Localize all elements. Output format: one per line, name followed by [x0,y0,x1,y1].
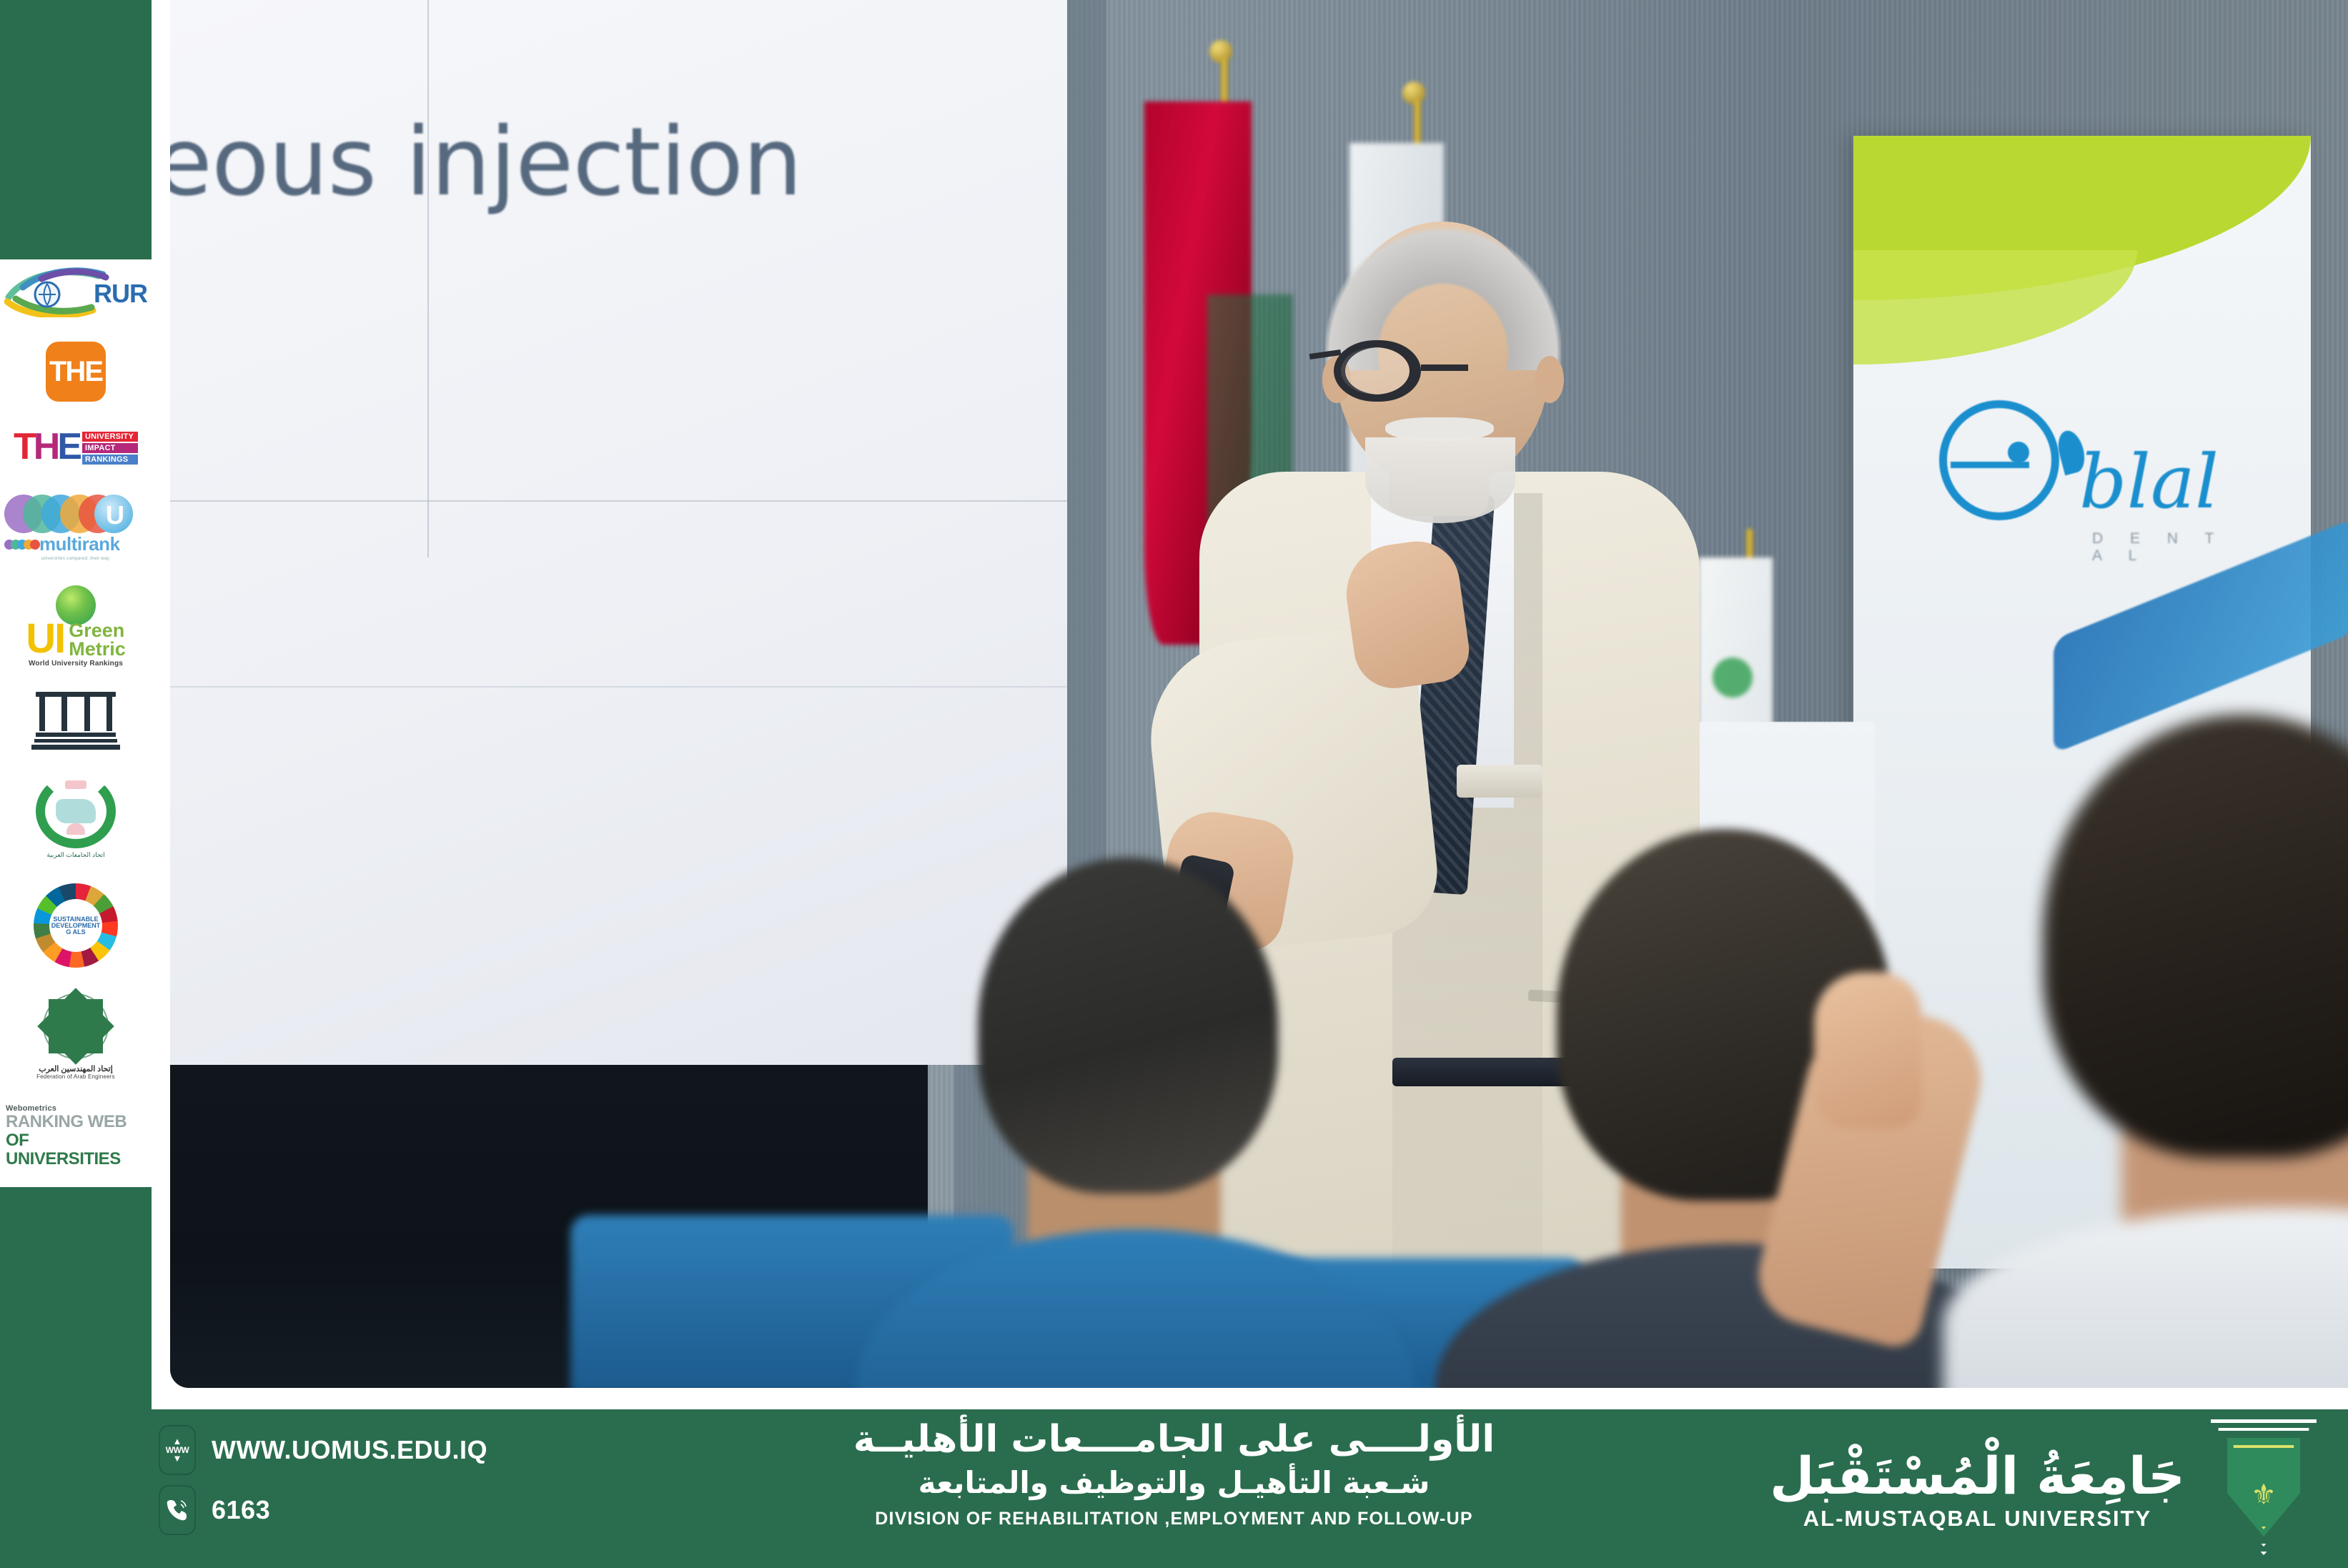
eblal-logo: blal D E N T A L [1939,400,2239,543]
federation-arab-engineers-icon: إتحاد المهندسين العرب Federation of Arab… [22,992,129,1080]
ranking-badge-arab-universities: اتحاد الجامعات العربية [6,774,146,859]
arab-universities-caption: اتحاد الجامعات العربية [46,851,104,859]
rur-icon: RUR [4,266,147,317]
ranking-badge-federation-arab-engineers: إتحاد المهندسين العرب Federation of Arab… [6,992,146,1080]
university-name-arabic: جَامِعَةُ الْمُسْتَقْبَل [1770,1443,2185,1509]
sdg-wheel-icon: SUSTAINABLE DEVELOPMENT G ALS [34,883,118,968]
ranking-badge-rur: RUR [6,266,146,317]
the-impact-line-university: UNIVERSITY [82,432,138,442]
ranking-badge-the: THE [6,342,146,402]
rur-label: RUR [94,279,147,309]
greenmetric-caption: World University Rankings [29,660,123,668]
footer-brand-block: جَامِعَةُ الْمُسْتَقْبَل AL-MUSTAQBAL UN… [1770,1419,2324,1555]
eblal-circle-icon [1939,400,2059,520]
audience-member-center [1478,829,1978,1388]
audience-member-right [2000,715,2348,1388]
speaker-name-badge [1457,765,1542,798]
the-impact-line-impact: IMPACT [82,443,138,453]
page-footer: ▲ WWW ▼ WWW.UOMUS.EDU.IQ 6163 الأولـ [0,1409,2348,1568]
multirank-dots: U [4,495,147,537]
the-logo-icon: THE [46,342,106,402]
webometrics-line-2: OF UNIVERSITIES [6,1131,146,1168]
multirank-tagline: universities compared. their way. [4,557,147,561]
photo-card-frame: seous injection blal [152,0,2348,1409]
ranking-badge-greenmetric: UI Green Metric World University Ranking… [6,585,146,668]
webometrics-line-1: RANKING WEB [6,1113,146,1131]
greenmetric-green-label: Green [69,621,126,640]
audience-member-left [921,858,1335,1388]
the-impact-line-rankings: RANKINGS [82,455,138,465]
laurel-wreath-icon [36,774,116,848]
rail-green-top-block [0,0,152,259]
sdg-core-text: SUSTAINABLE DEVELOPMENT G ALS [51,916,101,936]
fae-arabic-label: إتحاد المهندسين العرب [39,1064,113,1073]
accreditation-rail: RUR THE THE UNIVERSITY IMPACT RANKINGS [0,0,152,1568]
ranking-badge-unesco [6,692,146,750]
eight-point-star-icon [41,992,110,1061]
slide-title-text: seous injection [170,107,802,217]
multirank-icon: U multirank universities compared. their… [4,495,147,561]
greenmetric-wordmark: UI Green Metric [26,620,126,658]
greenmetric-metric-label: Metric [69,640,126,658]
the-label: THE [49,356,102,388]
speaker-glasses-icon [1334,340,1555,405]
the-impact-bars: UNIVERSITY IMPACT RANKINGS [82,426,138,470]
ranking-badge-the-impact: THE UNIVERSITY IMPACT RANKINGS [6,426,146,470]
webometrics-icon: Webometrics RANKING WEB OF UNIVERSITIES [6,1104,146,1168]
ranking-badge-multirank: U multirank universities compared. their… [6,495,146,561]
unesco-pillars-icon [36,692,116,750]
greenmetric-icon: UI Green Metric World University Ranking… [4,585,147,668]
multirank-letter: U [106,500,124,530]
multirank-mini-dots [4,540,36,550]
university-name-english: AL-MUSTAQBAL UNIVERSITY [1803,1506,2151,1532]
speaker-beard [1365,437,1515,523]
university-name-block: جَامِعَةُ الْمُسْتَقْبَل AL-MUSTAQBAL UN… [1770,1443,2185,1532]
event-photograph: seous injection blal [170,0,2348,1388]
eblal-sub-label: D E N T A L [2092,530,2239,565]
sdg-line-3: G ALS [66,928,85,936]
eblal-brand-label: blal [2079,445,2219,519]
ranking-badge-webometrics: Webometrics RANKING WEB OF UNIVERSITIES [6,1104,146,1168]
ranking-badge-sdg: SUSTAINABLE DEVELOPMENT G ALS [6,883,146,968]
the-impact-icon: THE UNIVERSITY IMPACT RANKINGS [14,426,138,470]
fae-english-label: Federation of Arab Engineers [36,1073,115,1080]
page-root: RUR THE THE UNIVERSITY IMPACT RANKINGS [0,0,2348,1568]
ranking-badges-list: RUR THE THE UNIVERSITY IMPACT RANKINGS [0,266,152,1168]
banner-green-wave-secondary [1853,250,2137,364]
the-impact-mark: THE [14,426,79,470]
greenmetric-ui-label: UI [26,620,64,658]
arab-universities-icon: اتحاد الجامعات العربية [29,774,122,859]
university-crest-icon: ⚜ [2204,1419,2324,1555]
greenmetric-words: Green Metric [69,621,126,658]
